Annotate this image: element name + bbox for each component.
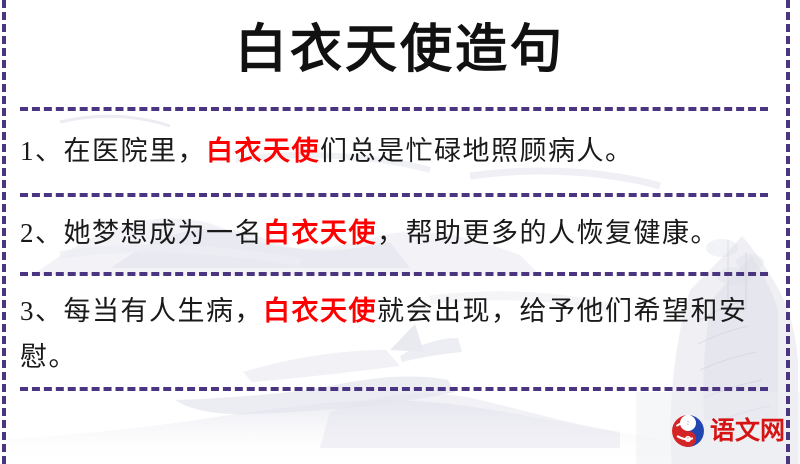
sentence-1-number: 1、 xyxy=(20,136,64,166)
frame-right-dashed-border xyxy=(786,0,790,464)
sentence-worksheet-page: 白衣天使造句 1、在医院里，白衣天使们总是忙碌地照顾病人。 2、她梦想成为一名白… xyxy=(0,0,800,464)
sentence-row-1: 1、在医院里，白衣天使们总是忙碌地照顾病人。 xyxy=(20,128,770,174)
divider-rule-4 xyxy=(20,387,768,391)
sentence-2-number: 2、 xyxy=(20,218,64,248)
sentence-1-keyword: 白衣天使 xyxy=(206,136,320,166)
page-title: 白衣天使造句 xyxy=(0,16,800,86)
sentence-2-text-after: ，帮助更多的人恢复健康。 xyxy=(377,218,719,248)
logo-text: 语文网 xyxy=(710,414,785,448)
divider-rule-3 xyxy=(20,272,768,276)
sentence-3-number: 3、 xyxy=(20,296,64,326)
sentence-3-keyword: 白衣天使 xyxy=(263,296,377,326)
sentence-row-3: 3、每当有人生病，白衣天使就会出现，给予他们希望和安慰。 xyxy=(20,288,770,380)
sentence-row-2: 2、她梦想成为一名白衣天使，帮助更多的人恢复健康。 xyxy=(20,210,770,256)
sentence-1-text-before: 在医院里， xyxy=(64,136,207,166)
sentence-1-text-after: 们总是忙碌地照顾病人。 xyxy=(320,136,634,166)
site-logo[interactable]: 语文网 xyxy=(671,414,785,448)
yinyang-circle-icon xyxy=(671,414,705,448)
divider-rule-1 xyxy=(20,107,768,111)
sentence-2-text-before: 她梦想成为一名 xyxy=(64,218,264,248)
divider-rule-2 xyxy=(20,193,768,197)
sentence-2-keyword: 白衣天使 xyxy=(263,218,377,248)
frame-left-dashed-border xyxy=(2,0,6,464)
sentence-3-text-before: 每当有人生病， xyxy=(64,296,264,326)
